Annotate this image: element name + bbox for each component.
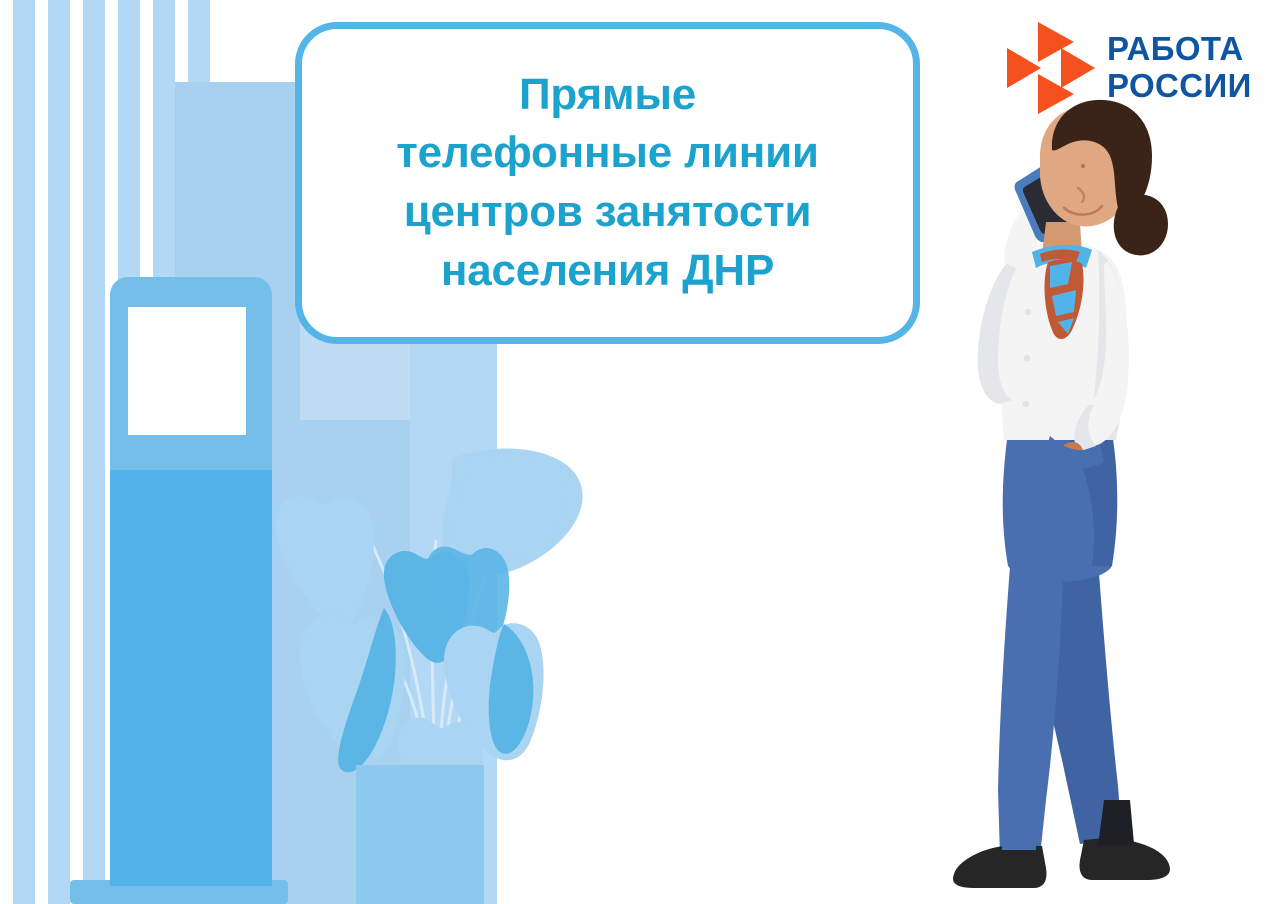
- blouse-button: [1023, 401, 1029, 407]
- brand-logo: РАБОТА РОССИИ: [1005, 18, 1267, 118]
- blouse-button: [1024, 355, 1030, 361]
- woman-on-phone: [953, 100, 1170, 888]
- sock-back: [1098, 800, 1134, 846]
- kiosk-screen: [128, 307, 246, 435]
- logo-line-1: РАБОТА: [1107, 31, 1252, 68]
- blouse-button: [1025, 309, 1031, 315]
- eye: [1081, 164, 1085, 168]
- hair-bun: [1114, 194, 1168, 255]
- four-triangle-mark: [1005, 20, 1097, 116]
- plant-pot: [356, 765, 484, 904]
- title-text: Прямые телефонные линии центров занятост…: [378, 66, 837, 300]
- logo-wordmark: РАБОТА РОССИИ: [1107, 31, 1252, 105]
- kiosk-body-lower: [110, 470, 272, 886]
- logo-line-2: РОССИИ: [1107, 68, 1252, 105]
- title-card: Прямые телефонные линии центров занятост…: [295, 22, 920, 344]
- ankle-front: [1002, 812, 1036, 850]
- shoe-front: [953, 846, 1047, 888]
- poster-canvas: Прямые телефонные линии центров занятост…: [0, 0, 1280, 904]
- leg-front: [998, 540, 1064, 856]
